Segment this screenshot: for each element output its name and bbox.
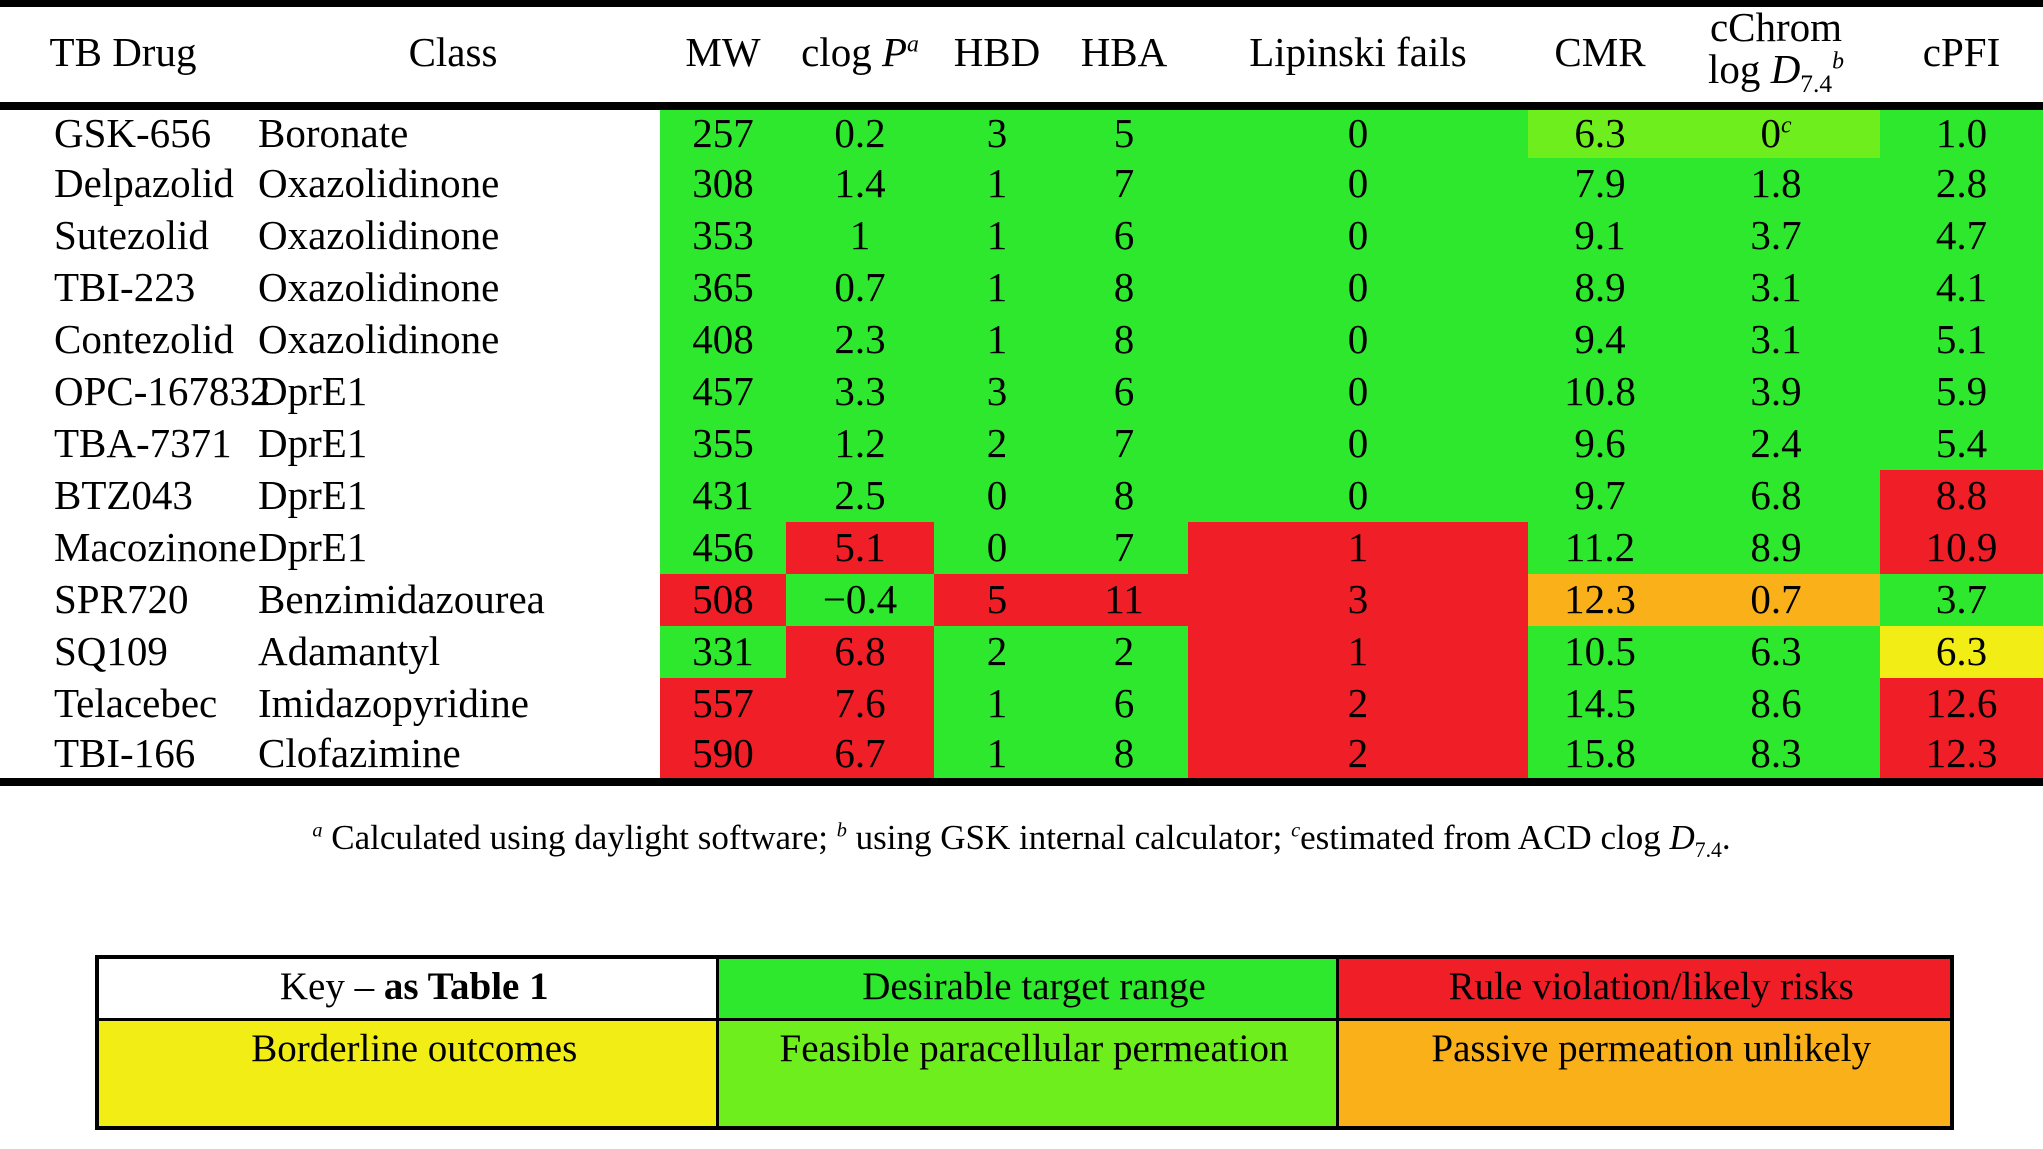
cell-drug-name: Contezolid	[0, 314, 246, 366]
cell-cmr: 9.1	[1528, 210, 1672, 262]
table-row: SutezolidOxazolidinone35311609.13.74.7	[0, 210, 2043, 262]
cell-cmr: 15.8	[1528, 730, 1672, 782]
table-body: GSK-656Boronate2570.23506.30c1.0Delpazol…	[0, 106, 2043, 782]
cell-hba: 6	[1060, 678, 1188, 730]
cell-lipinski: 0	[1188, 418, 1528, 470]
cell-cpfi: 5.9	[1880, 366, 2043, 418]
cell-drug-class: Adamantyl	[246, 626, 660, 678]
cell-cpfi: 12.3	[1880, 730, 2043, 782]
cell-clogp: 1	[786, 210, 934, 262]
cell-hba: 7	[1060, 418, 1188, 470]
cell-clogp: 6.7	[786, 730, 934, 782]
cell-cmr: 9.4	[1528, 314, 1672, 366]
cell-chrom: 3.1	[1672, 262, 1880, 314]
cell-hba: 5	[1060, 106, 1188, 158]
cell-clogp: 5.1	[786, 522, 934, 574]
cell-hbd: 1	[934, 314, 1060, 366]
cell-drug-name: GSK-656	[0, 106, 246, 158]
footnote-text-a: Calculated using daylight software;	[323, 818, 837, 857]
cell-cmr: 12.3	[1528, 574, 1672, 626]
cell-clogp: 2.3	[786, 314, 934, 366]
cell-drug-class: Benzimidazourea	[246, 574, 660, 626]
cell-value: 0	[1760, 110, 1781, 156]
cell-chrom: 3.1	[1672, 314, 1880, 366]
cell-cpfi: 2.8	[1880, 158, 2043, 210]
cell-mw: 457	[660, 366, 786, 418]
cell-chrom: 6.8	[1672, 470, 1880, 522]
cell-cmr: 11.2	[1528, 522, 1672, 574]
cell-chrom: 8.9	[1672, 522, 1880, 574]
cell-mw: 308	[660, 158, 786, 210]
cell-drug-class: Boronate	[246, 106, 660, 158]
cell-chrom: 0.7	[1672, 574, 1880, 626]
cell-drug-name: Delpazolid	[0, 158, 246, 210]
legend-title-cell: Key – as Table 1	[97, 957, 717, 1020]
cchrom-line2: log D7.4b	[1672, 49, 1880, 98]
cell-mw: 365	[660, 262, 786, 314]
cell-cpfi: 1.0	[1880, 106, 2043, 158]
cell-lipinski: 0	[1188, 470, 1528, 522]
table-row: OPC-167832DprE14573.336010.83.95.9	[0, 366, 2043, 418]
logd-footnote-marker: b	[1832, 48, 1844, 74]
footnote-D-symbol: D	[1669, 818, 1694, 857]
cchrom-line1: cChrom	[1672, 7, 1880, 49]
cell-mw: 456	[660, 522, 786, 574]
legend-container: Key – as Table 1 Desirable target range …	[95, 955, 1950, 1130]
table-row: SQ109Adamantyl3316.822110.56.36.3	[0, 626, 2043, 678]
table-footnote: a Calculated using daylight software; b …	[0, 818, 2043, 863]
table-header: TB Drug Class MW clog Pa HBD HBA Lipinsk…	[0, 4, 2043, 106]
cell-hba: 2	[1060, 626, 1188, 678]
cell-drug-name: TBA-7371	[0, 418, 246, 470]
cell-lipinski: 3	[1188, 574, 1528, 626]
legend-feasible-cell: Feasible paracellular permeation	[717, 1020, 1337, 1128]
cell-cmr: 10.5	[1528, 626, 1672, 678]
cell-cpfi: 6.3	[1880, 626, 2043, 678]
cell-cmr: 9.6	[1528, 418, 1672, 470]
cell-mw: 257	[660, 106, 786, 158]
table-row: TBA-7371DprE13551.22709.62.45.4	[0, 418, 2043, 470]
logd-sub: 7.4	[1800, 70, 1832, 98]
cell-mw: 353	[660, 210, 786, 262]
cell-cpfi: 4.1	[1880, 262, 2043, 314]
cell-cmr: 9.7	[1528, 470, 1672, 522]
cell-drug-class: Clofazimine	[246, 730, 660, 782]
cell-drug-class: DprE1	[246, 470, 660, 522]
cell-drug-name: Telacebec	[0, 678, 246, 730]
cell-hba: 11	[1060, 574, 1188, 626]
cell-cpfi: 4.7	[1880, 210, 2043, 262]
legend-desirable-cell: Desirable target range	[717, 957, 1337, 1020]
cell-chrom: 0c	[1672, 106, 1880, 158]
footnote-marker-b: b	[837, 819, 847, 841]
cell-hba: 6	[1060, 366, 1188, 418]
cell-hbd: 3	[934, 106, 1060, 158]
legend-borderline-cell: Borderline outcomes	[97, 1020, 717, 1128]
cell-drug-class: Imidazopyridine	[246, 678, 660, 730]
cell-drug-name: Sutezolid	[0, 210, 246, 262]
cell-drug-class: DprE1	[246, 418, 660, 470]
legend-row-2: Borderline outcomes Feasible paracellula…	[97, 1020, 1952, 1128]
cell-clogp: 1.2	[786, 418, 934, 470]
cell-hbd: 2	[934, 626, 1060, 678]
footnote-text-c: estimated from ACD clog	[1300, 818, 1669, 857]
cell-lipinski: 0	[1188, 366, 1528, 418]
cell-drug-name: Macozinone	[0, 522, 246, 574]
clogp-text: clog	[801, 29, 882, 75]
cell-hbd: 1	[934, 262, 1060, 314]
cell-mw: 331	[660, 626, 786, 678]
cell-drug-class: Oxazolidinone	[246, 158, 660, 210]
cell-drug-name: SQ109	[0, 626, 246, 678]
cell-lipinski: 1	[1188, 626, 1528, 678]
col-header-lipinski-fails: Lipinski fails	[1188, 4, 1528, 106]
cell-mw: 355	[660, 418, 786, 470]
cell-lipinski: 1	[1188, 522, 1528, 574]
cell-mw: 557	[660, 678, 786, 730]
cell-chrom: 2.4	[1672, 418, 1880, 470]
cell-hba: 8	[1060, 730, 1188, 782]
cell-chrom: 1.8	[1672, 158, 1880, 210]
clogp-footnote-marker: a	[907, 31, 919, 57]
cell-cmr: 6.3	[1528, 106, 1672, 158]
table-row: DelpazolidOxazolidinone3081.41707.91.82.…	[0, 158, 2043, 210]
cell-hbd: 0	[934, 522, 1060, 574]
cell-lipinski: 2	[1188, 678, 1528, 730]
cell-clogp: 0.2	[786, 106, 934, 158]
cell-clogp: 3.3	[786, 366, 934, 418]
cell-cpfi: 5.4	[1880, 418, 2043, 470]
cell-clogp: 1.4	[786, 158, 934, 210]
cell-chrom: 3.7	[1672, 210, 1880, 262]
cell-hba: 7	[1060, 522, 1188, 574]
cell-cmr: 10.8	[1528, 366, 1672, 418]
clogp-symbol: P	[882, 29, 907, 75]
table-row: BTZ043DprE14312.50809.76.88.8	[0, 470, 2043, 522]
cell-chrom: 8.3	[1672, 730, 1880, 782]
table-row: SPR720Benzimidazourea508−0.4511312.30.73…	[0, 574, 2043, 626]
cell-drug-name: OPC-167832	[0, 366, 246, 418]
cell-hbd: 5	[934, 574, 1060, 626]
cell-cpfi: 12.6	[1880, 678, 2043, 730]
footnote-marker-c: c	[1291, 819, 1300, 841]
cell-hbd: 3	[934, 366, 1060, 418]
cell-chrom: 6.3	[1672, 626, 1880, 678]
cell-drug-class: Oxazolidinone	[246, 210, 660, 262]
table-row: TBI-166Clofazimine5906.718215.88.312.3	[0, 730, 2043, 782]
table-row: TelacebecImidazopyridine5577.616214.58.6…	[0, 678, 2043, 730]
cell-clogp: 0.7	[786, 262, 934, 314]
cell-cmr: 14.5	[1528, 678, 1672, 730]
footnote-D-sub: 7.4	[1695, 838, 1722, 862]
cell-hbd: 1	[934, 730, 1060, 782]
table-row: GSK-656Boronate2570.23506.30c1.0	[0, 106, 2043, 158]
table-row: ContezolidOxazolidinone4082.31809.43.15.…	[0, 314, 2043, 366]
cell-clogp: 2.5	[786, 470, 934, 522]
col-header-cchrom-logd: cChrom log D7.4b	[1672, 4, 1880, 106]
cell-cpfi: 5.1	[1880, 314, 2043, 366]
col-header-hba: HBA	[1060, 4, 1188, 106]
cell-drug-class: DprE1	[246, 522, 660, 574]
legend-rule-violation-cell: Rule violation/likely risks	[1337, 957, 1952, 1020]
col-header-tb-drug: TB Drug	[0, 4, 246, 106]
cell-footnote-marker: c	[1781, 113, 1792, 139]
cell-hba: 8	[1060, 470, 1188, 522]
cell-lipinski: 2	[1188, 730, 1528, 782]
cell-cmr: 7.9	[1528, 158, 1672, 210]
cell-lipinski: 0	[1188, 158, 1528, 210]
legend-title-bold: as Table 1	[384, 965, 549, 1008]
cell-drug-name: BTZ043	[0, 470, 246, 522]
header-row: TB Drug Class MW clog Pa HBD HBA Lipinsk…	[0, 4, 2043, 106]
cell-drug-name: SPR720	[0, 574, 246, 626]
tb-drug-properties-table: TB Drug Class MW clog Pa HBD HBA Lipinsk…	[0, 0, 2043, 786]
cell-drug-name: TBI-166	[0, 730, 246, 782]
cell-clogp: 6.8	[786, 626, 934, 678]
cell-hbd: 0	[934, 470, 1060, 522]
col-header-clogp: clog Pa	[786, 4, 934, 106]
cell-lipinski: 0	[1188, 262, 1528, 314]
cell-hba: 8	[1060, 262, 1188, 314]
cell-drug-class: DprE1	[246, 366, 660, 418]
cell-cpfi: 10.9	[1880, 522, 2043, 574]
cell-cpfi: 3.7	[1880, 574, 2043, 626]
cell-clogp: 7.6	[786, 678, 934, 730]
cell-mw: 590	[660, 730, 786, 782]
cell-hbd: 1	[934, 158, 1060, 210]
col-header-class: Class	[246, 4, 660, 106]
cell-lipinski: 0	[1188, 314, 1528, 366]
cell-lipinski: 0	[1188, 106, 1528, 158]
cell-cmr: 8.9	[1528, 262, 1672, 314]
cell-lipinski: 0	[1188, 210, 1528, 262]
col-header-hbd: HBD	[934, 4, 1060, 106]
cell-mw: 408	[660, 314, 786, 366]
cell-clogp: −0.4	[786, 574, 934, 626]
footnote-period: .	[1722, 818, 1731, 857]
logd-symbol: D	[1771, 46, 1801, 92]
cell-chrom: 8.6	[1672, 678, 1880, 730]
cell-drug-class: Oxazolidinone	[246, 262, 660, 314]
logd-log: log	[1708, 46, 1771, 92]
cell-hbd: 1	[934, 210, 1060, 262]
legend-passive-cell: Passive permeation unlikely	[1337, 1020, 1952, 1128]
cell-drug-class: Oxazolidinone	[246, 314, 660, 366]
cell-drug-name: TBI-223	[0, 262, 246, 314]
cell-mw: 508	[660, 574, 786, 626]
properties-table-container: TB Drug Class MW clog Pa HBD HBA Lipinsk…	[0, 0, 2043, 786]
cell-hbd: 2	[934, 418, 1060, 470]
col-header-cmr: CMR	[1528, 4, 1672, 106]
footnote-text-b: using GSK internal calculator;	[847, 818, 1291, 857]
col-header-mw: MW	[660, 4, 786, 106]
cell-chrom: 3.9	[1672, 366, 1880, 418]
table-row: MacozinoneDprE14565.107111.28.910.9	[0, 522, 2043, 574]
col-header-cpfi: cPFI	[1880, 4, 2043, 106]
legend-title-plain: Key –	[280, 965, 384, 1008]
cell-mw: 431	[660, 470, 786, 522]
color-key-table: Key – as Table 1 Desirable target range …	[95, 955, 1954, 1130]
cell-hba: 8	[1060, 314, 1188, 366]
cell-hba: 6	[1060, 210, 1188, 262]
table-row: TBI-223Oxazolidinone3650.71808.93.14.1	[0, 262, 2043, 314]
footnote-marker-a: a	[312, 819, 322, 841]
legend-row-1: Key – as Table 1 Desirable target range …	[97, 957, 1952, 1020]
cell-hbd: 1	[934, 678, 1060, 730]
cell-cpfi: 8.8	[1880, 470, 2043, 522]
cell-hba: 7	[1060, 158, 1188, 210]
